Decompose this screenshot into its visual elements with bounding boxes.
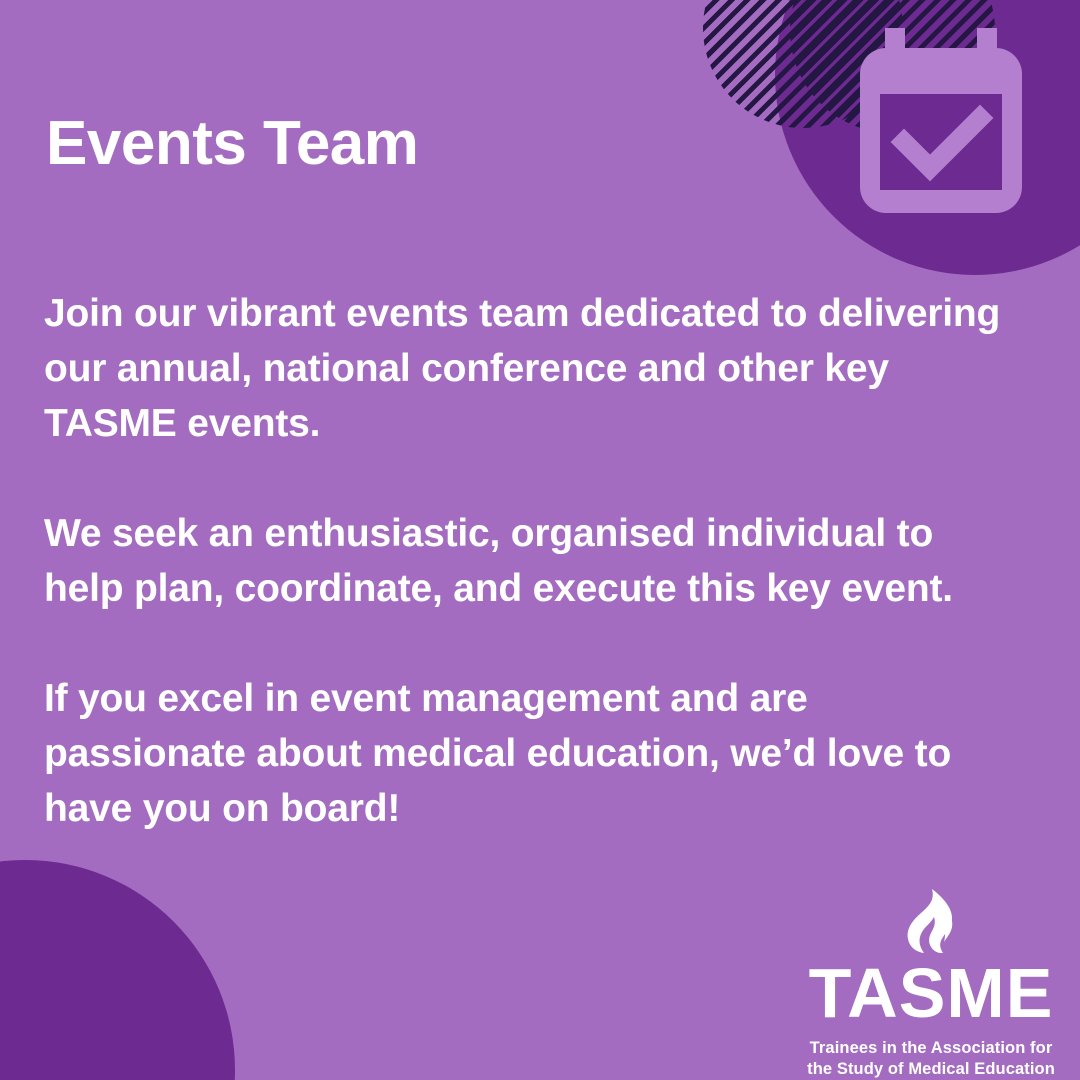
- tasme-logo: TASME Trainees in the Association for th…: [800, 888, 1062, 1080]
- logo-wordmark: TASME: [800, 958, 1062, 1028]
- paragraph-3: If you excel in event management and are…: [44, 671, 1044, 836]
- poster-canvas: Events Team Join our vibrant events team…: [0, 0, 1080, 1080]
- calendar-check-icon: [860, 28, 1022, 213]
- paragraph-1: Join our vibrant events team dedicated t…: [44, 286, 1044, 451]
- dark-circle-bottom-left: [0, 860, 235, 1080]
- paragraph-2: We seek an enthusiastic, organised indiv…: [44, 506, 1044, 616]
- flame-icon: [902, 888, 960, 954]
- body-copy: Join our vibrant events team dedicated t…: [44, 286, 1044, 836]
- page-title: Events Team: [46, 110, 418, 178]
- logo-tagline: Trainees in the Association for the Stud…: [800, 1038, 1062, 1080]
